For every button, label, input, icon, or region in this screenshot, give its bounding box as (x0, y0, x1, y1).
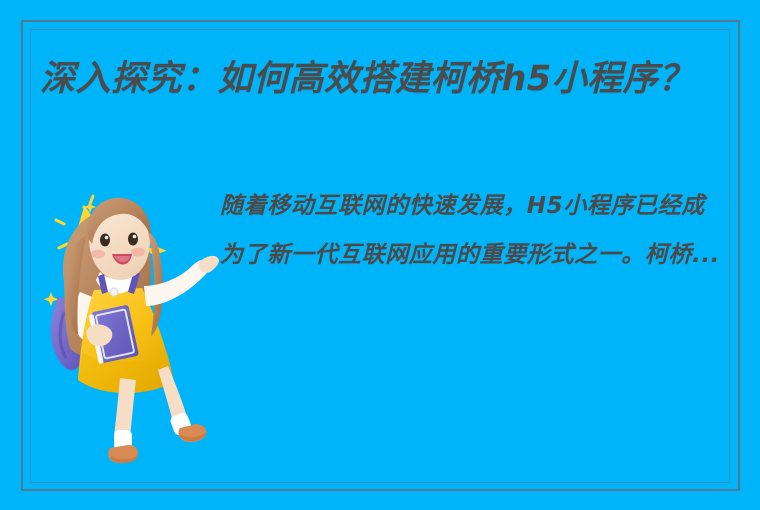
page-title: 深入探究：如何高效搭建柯桥h5小程序？ (40, 55, 730, 103)
blush-left (91, 250, 105, 259)
blush-right (131, 248, 145, 257)
poster-card: 深入探究：如何高效搭建柯桥h5小程序？ 随着移动互联网的快速发展，H5小程序已经… (0, 0, 760, 510)
eye-left (100, 234, 110, 247)
eye-right (128, 233, 138, 246)
article-excerpt: 随着移动互联网的快速发展，H5小程序已经成为了新一代互联网应用的重要形式之一。柯… (220, 182, 720, 280)
girl-student-illustration: LOVE (34, 182, 224, 482)
